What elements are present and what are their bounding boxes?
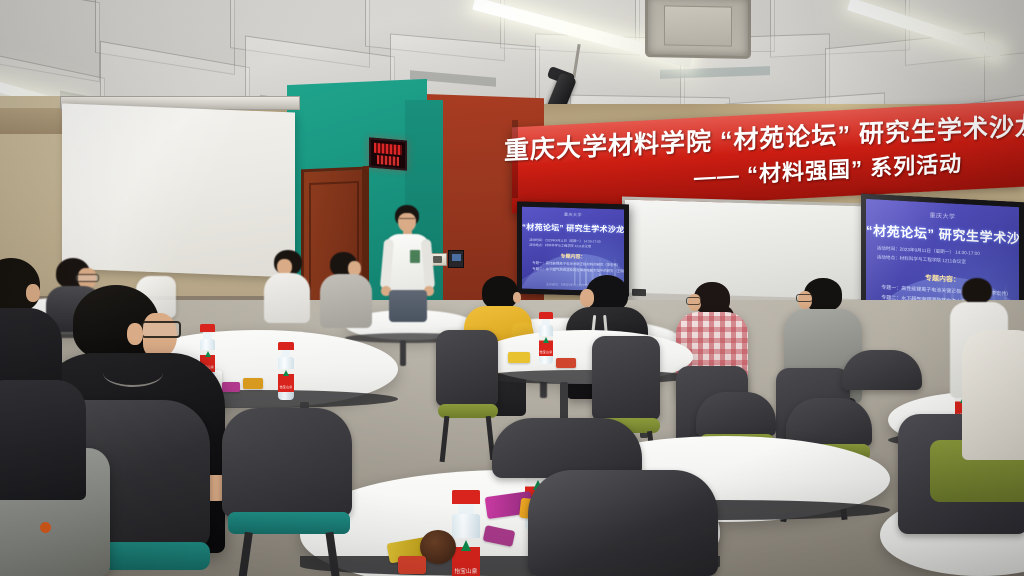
bottle-cap [278, 342, 294, 350]
bottle-neck [203, 332, 211, 339]
bottle-neck [282, 350, 291, 357]
chair-back [436, 330, 498, 406]
chair-back [842, 350, 922, 390]
presenter-trousers [389, 290, 427, 322]
banner-left-edge [512, 120, 518, 198]
projection-screen-sheen [62, 104, 295, 278]
photo-scene: 重庆大学材料学院 “材苑论坛” 研究生学术沙龙 —— “材料强国” 系列活动 重… [0, 0, 1024, 576]
chair-seat [228, 512, 350, 534]
glasses-icon [796, 294, 813, 302]
ear [127, 323, 143, 345]
hair [482, 276, 518, 309]
slide-title: “材苑论坛” 研究生学术沙龙 [522, 221, 624, 235]
bottle-label: 怡宝山泉 [539, 336, 553, 356]
presenter-shirt-logo [410, 250, 420, 263]
bottle-label-text: 怡宝山泉 [452, 567, 480, 575]
ear [26, 284, 40, 302]
whiteboard-marker[interactable] [632, 289, 646, 296]
glasses-icon [141, 321, 181, 338]
bottle-cap [452, 490, 480, 504]
chair-back [786, 398, 872, 446]
chair-back [528, 470, 718, 576]
snack-item [556, 358, 576, 368]
water-bottle[interactable]: 怡宝山泉 [539, 312, 553, 364]
slide-title: “材苑论坛” 研究生学术沙龙 [866, 220, 1019, 247]
chair-back [222, 408, 352, 518]
slide-org-logo: 重庆大学 [929, 210, 955, 220]
chair-back [592, 336, 660, 420]
shirt-dark [0, 380, 86, 500]
snack-item [222, 382, 240, 392]
snack-item [243, 378, 263, 389]
necklace [103, 359, 163, 387]
face-side [580, 289, 594, 307]
bottle-cap [539, 312, 553, 319]
shirt [264, 273, 310, 323]
slide-meta-place: 活动地点：材料科学与工程学院 1211会议室 [529, 242, 591, 249]
hoodie [320, 274, 372, 328]
table-leg [400, 340, 406, 366]
shirt-cream [962, 330, 1024, 460]
bottle-label-text: 怡宝山泉 [278, 385, 294, 389]
led-display-sign [369, 137, 407, 170]
table-edge [478, 370, 693, 384]
bottle-cap [200, 324, 215, 332]
snack-item [398, 556, 426, 574]
bottle-label: 怡宝山泉 [278, 369, 294, 392]
snack-item [508, 352, 530, 363]
wall-port-box[interactable] [448, 250, 464, 268]
backpack-buckle [40, 522, 51, 533]
water-bottle[interactable]: 怡宝山泉 [278, 342, 294, 400]
chair-back [492, 418, 642, 478]
bottle-label: 怡宝山泉 [452, 538, 480, 576]
bottle-label-text: 怡宝山泉 [539, 350, 553, 354]
chair-back [696, 392, 776, 436]
water-bottle[interactable]: 怡宝山泉 [452, 490, 480, 576]
presenter-glasses-icon [399, 218, 415, 222]
glasses-icon [75, 274, 99, 282]
slide-org-logo: 重庆大学 [564, 212, 582, 218]
slide-meta-place: 活动地点：材料科学与工程学院 1211会议室 [877, 255, 966, 266]
ear [513, 292, 521, 303]
hair [962, 278, 992, 304]
glasses-icon [686, 297, 701, 305]
